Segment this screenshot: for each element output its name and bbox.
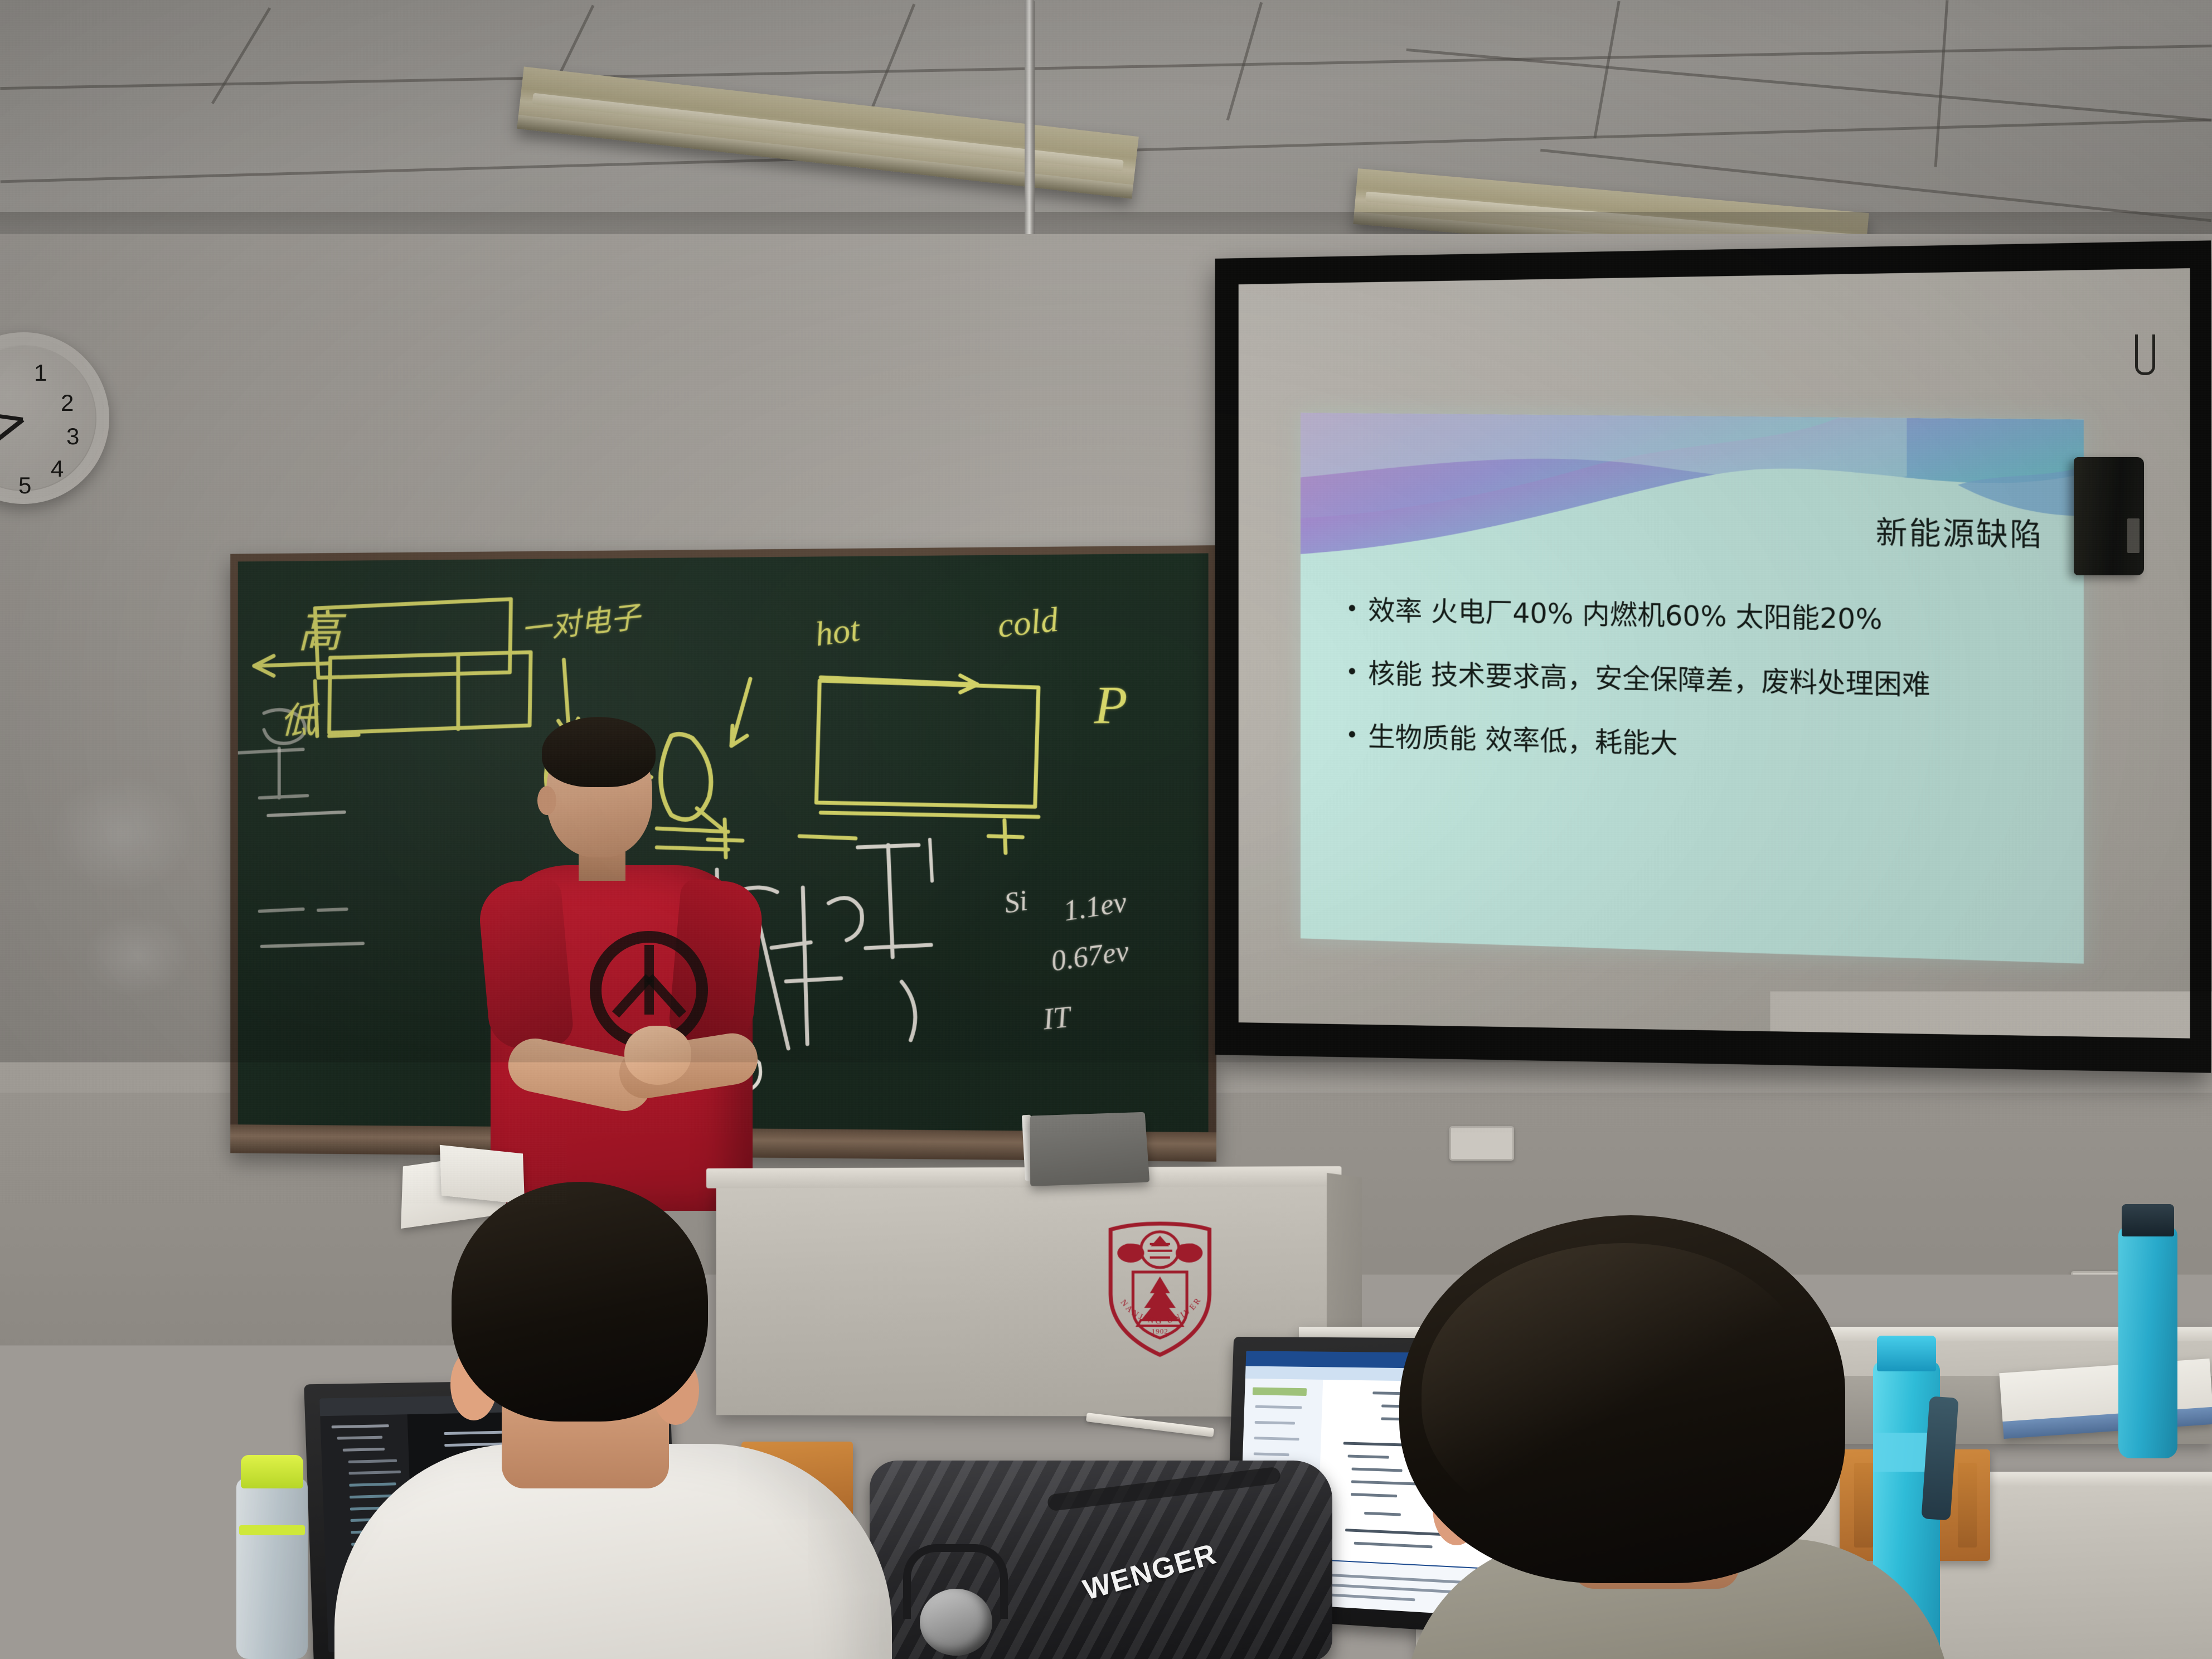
slide-bullet-list: • 效率 火电厂40% 内燃机60% 太阳能20% • 核能 技术要求高，安全保… [1346,594,2061,802]
crest-year: 1902 [1152,1327,1168,1335]
chalk-label-hot: hot [813,610,862,655]
bullet-marker-icon: • [1346,657,1359,687]
wall-smudge [50,775,195,892]
bullet-marker-icon: • [1346,594,1359,624]
slide-bullet-item: • 核能 技术要求高，安全保障差，废料处理困难 [1346,657,2061,705]
projection-screen: 新能源缺陷 • 效率 火电厂40% 内燃机60% 太阳能20% • 核能 技术要… [1215,240,2211,1073]
chair-slat [95,1405,111,1488]
bottle-left [236,1478,308,1659]
bullet-marker-icon: • [1346,720,1359,750]
power-outlet-right[interactable] [2071,1271,2119,1335]
backpack-zipper[interactable] [1047,1467,1282,1512]
chalk-label-denominator: IT [1041,999,1072,1036]
chalk-label-si: Si [1002,884,1030,920]
student-front-left [312,1165,903,1659]
slide-title: 新能源缺陷 [1876,507,2044,555]
backpack-brand-label: WENGER [1079,1537,1220,1607]
slide-bullet-text: 生物质能 效率低，耗能大 [1368,721,1677,760]
chalk-label-cold: cold [996,600,1060,646]
presentation-slide: 新能源缺陷 • 效率 火电厂40% 内燃机60% 太阳能20% • 核能 技术要… [1301,413,2084,963]
bottle-right [2118,1226,2177,1458]
screen-pull-cord[interactable] [2135,334,2155,375]
presenter-sleeve-left [477,877,575,1051]
backpack: WENGER [870,1461,1332,1659]
bottle-collar [239,1525,305,1535]
presenter-hair [542,717,656,787]
clock-numeral-2: 2 [61,390,74,416]
clock-numeral-1: 1 [34,360,47,386]
chalk-label-bandgap-ge: 0.67ev [1049,934,1131,978]
bag-left [0,1498,190,1610]
student-front-right [1388,1210,1990,1659]
clock-hour-hand [0,418,24,442]
chalk-label-bandgap-si: 1.1ev [1061,885,1129,928]
bottle-cap[interactable] [241,1455,304,1488]
bottle-body [236,1478,308,1659]
bottle-body [2118,1226,2177,1458]
wall-plate-center[interactable] [1449,1126,1514,1161]
presenter-ear [537,786,556,815]
bottle-cap[interactable] [2122,1204,2174,1236]
chair-slat [142,1405,158,1488]
chalk-note-electron-pair: 一对电子 [519,592,642,649]
outlet-slot [2084,1287,2088,1297]
slide-bullet-item: • 效率 火电厂40% 内燃机60% 太阳能20% [1346,594,2061,639]
chalk-label-high: 高 [298,596,341,660]
slide-bullet-text: 核能 技术要求高，安全保障差，废料处理困难 [1368,658,1930,702]
presenter-hands [624,1026,691,1085]
clock-numeral-5: 5 [18,472,31,499]
headphone-band [903,1544,1008,1619]
lectern-tablet[interactable] [1030,1112,1149,1186]
slide-bullet-item: • 生物质能 效率低，耗能大 [1346,720,2061,770]
slide-bullet-text: 效率 火电厂40% 内燃机60% 太阳能20% [1368,595,1882,637]
wall-speaker [2074,457,2144,575]
clock-numeral-4: 4 [51,455,64,482]
outlet-slot [2099,1287,2103,1297]
chalk-label-low: 低 [280,691,316,744]
student-hair [452,1182,708,1422]
presenter [491,714,753,1215]
university-crest: 1902 NANJING UNIVERSITY [1098,1218,1221,1358]
classroom-photo-scene: 1 2 3 4 5 [0,0,2212,1659]
speaker-bracket [2127,518,2140,553]
wall-smudge [84,914,190,998]
chair-back-left[interactable] [81,1388,221,1497]
clock-face: 1 2 3 4 5 [0,346,95,490]
chalk-label-power: P [1094,673,1128,736]
clock-numeral-3: 3 [66,423,79,450]
chair-slat [188,1405,205,1488]
projection-screen-fabric: 新能源缺陷 • 效率 火电厂40% 内燃机60% 太阳能20% • 核能 技术要… [1239,268,2190,1039]
